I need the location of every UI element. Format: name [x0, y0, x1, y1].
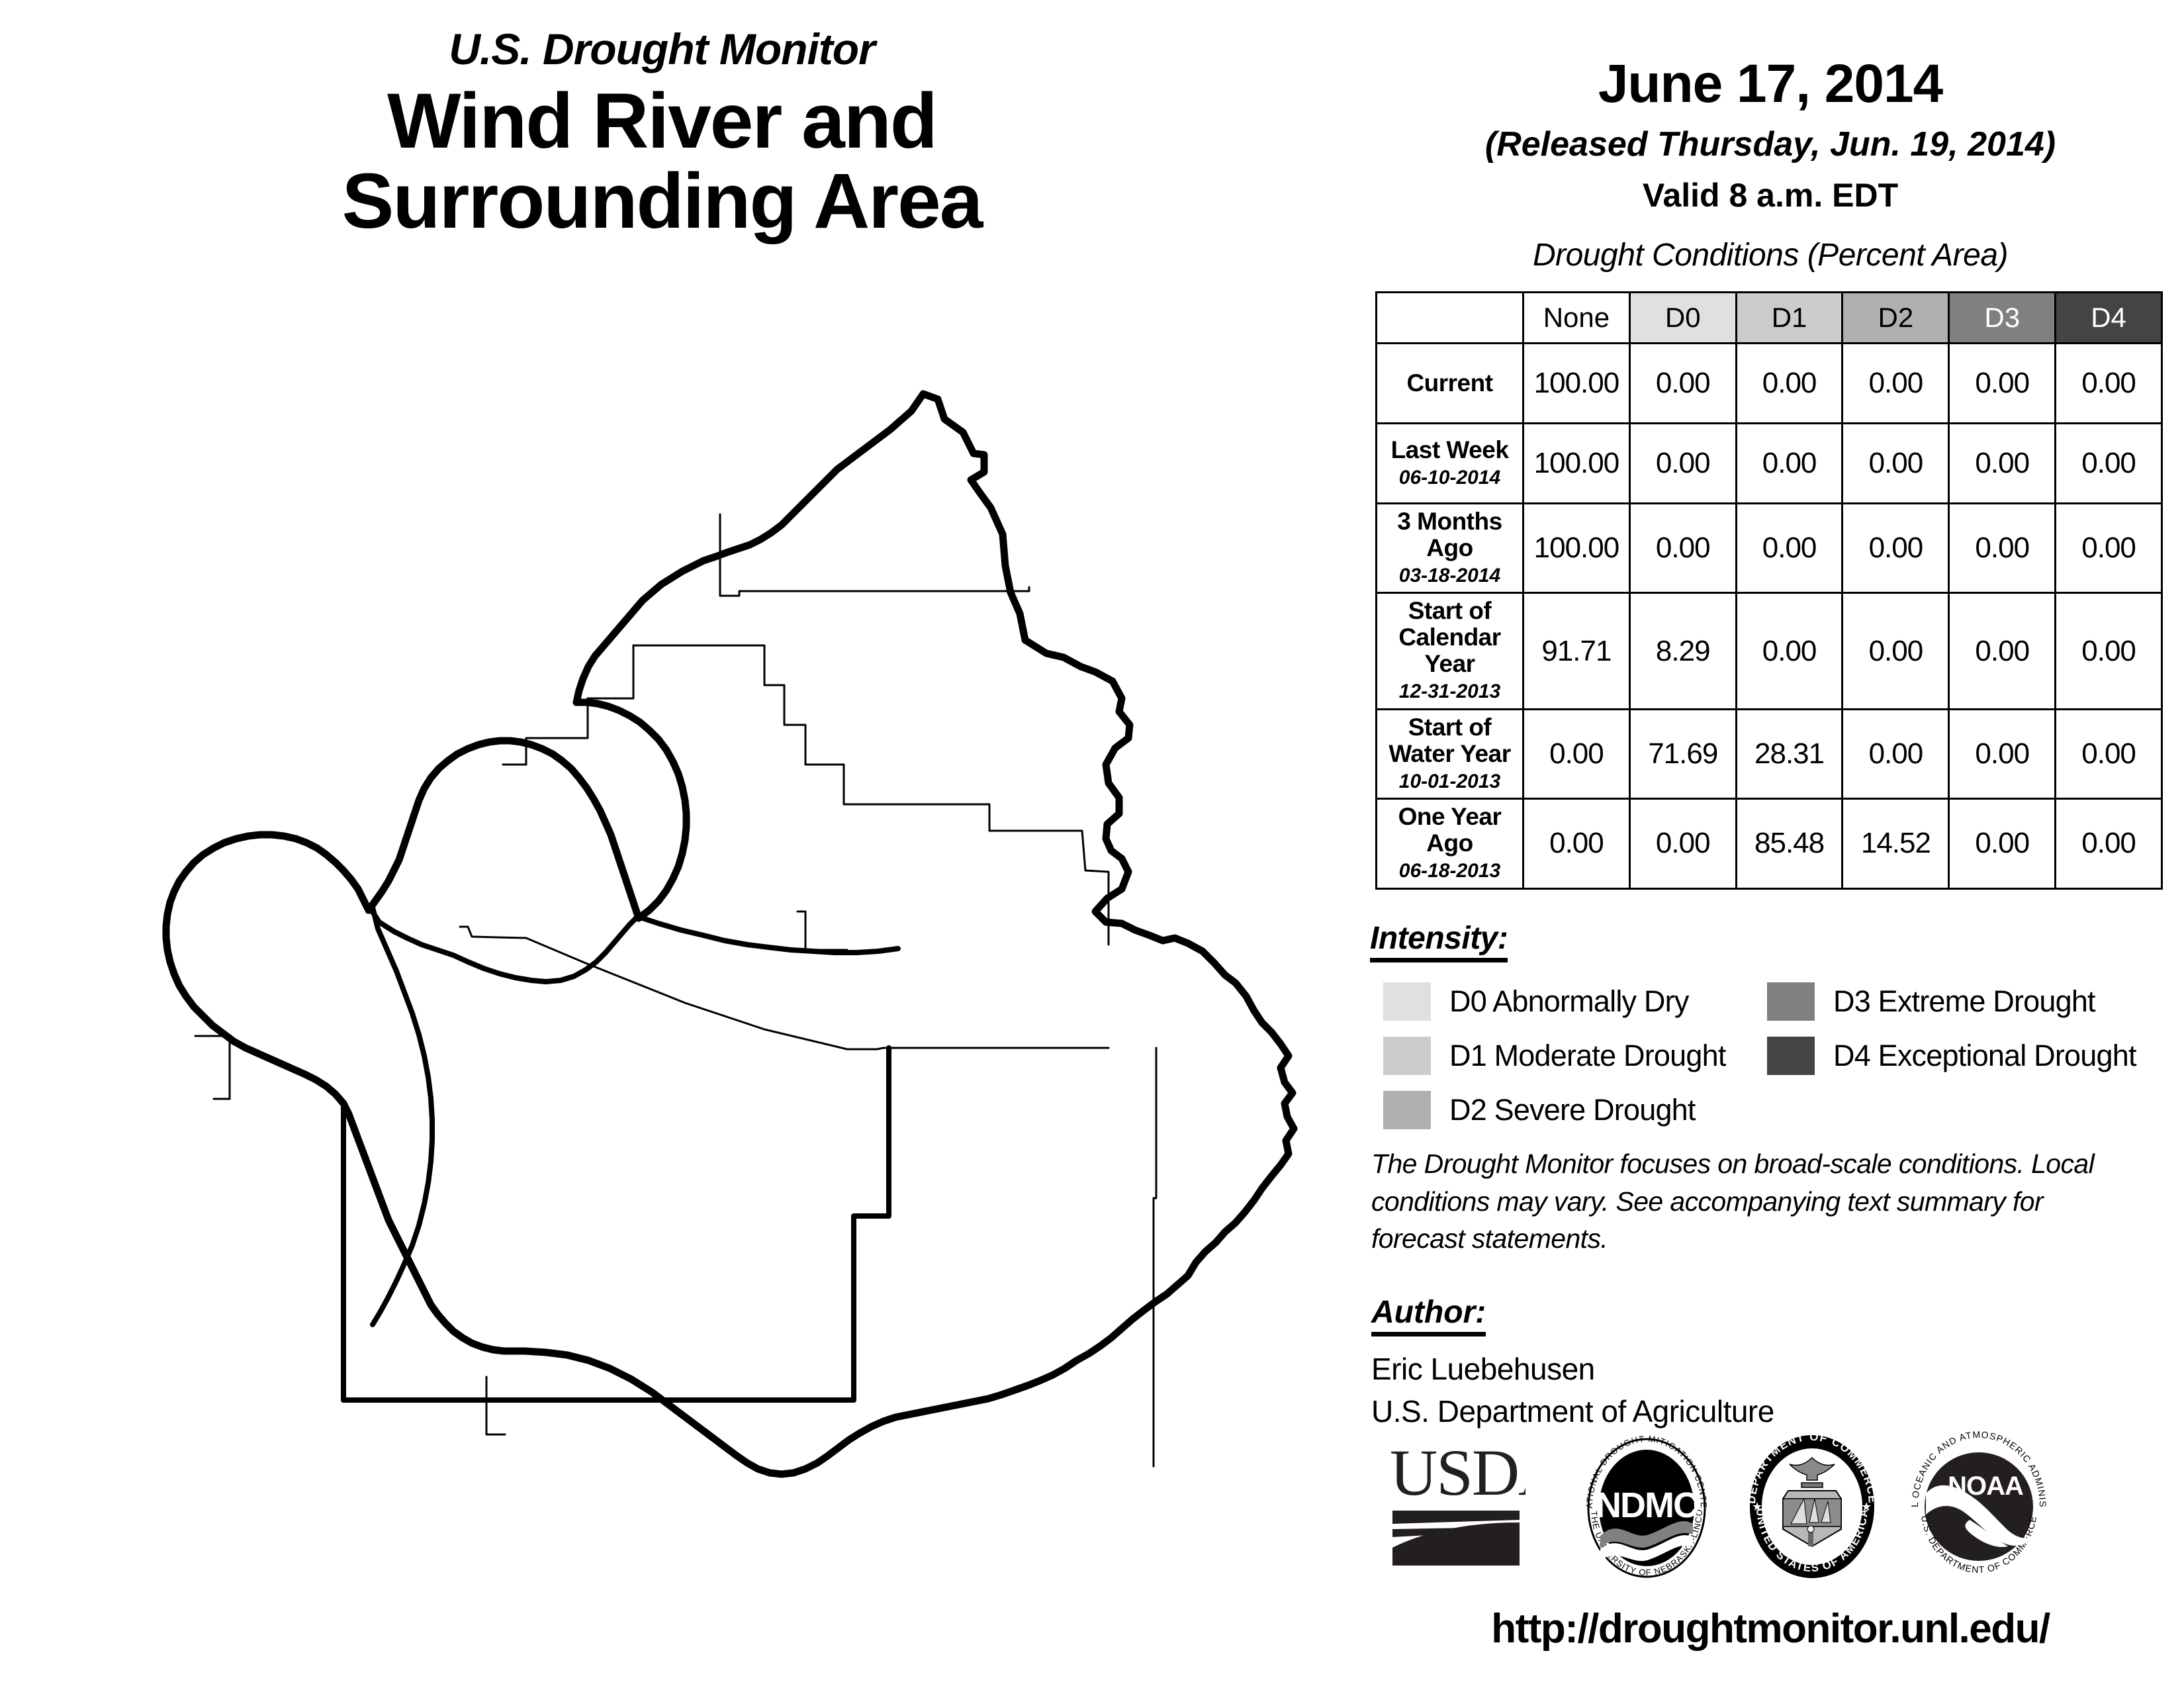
legend-swatch-d3 — [1767, 982, 1815, 1021]
legend-label-d1: D1 Moderate Drought — [1449, 1039, 1726, 1073]
author-organization: U.S. Department of Agriculture — [1371, 1393, 1774, 1429]
department-of-commerce-seal: DEPARTMENT OF COMMERCE UNITED STATES OF … — [1741, 1430, 1883, 1585]
cell-0-4: 0.00 — [1949, 344, 2056, 424]
cell-4-1: 71.69 — [1629, 709, 1736, 798]
row-label-name: One Year Ago — [1380, 804, 1520, 857]
cell-1-1: 0.00 — [1629, 424, 1736, 504]
column-header-d2: D2 — [1843, 293, 1949, 344]
row-label-name: Calendar Year — [1380, 624, 1520, 677]
cell-5-4: 0.00 — [1949, 799, 2056, 888]
row-label-date: 03-18-2014 — [1380, 563, 1520, 588]
cell-5-1: 0.00 — [1629, 799, 1736, 888]
cell-3-0: 91.71 — [1524, 593, 1630, 709]
cell-2-0: 100.00 — [1524, 504, 1630, 593]
cell-5-0: 0.00 — [1524, 799, 1630, 888]
table-row: Last Week06-10-2014100.000.000.000.000.0… — [1377, 424, 2162, 504]
legend-label-d3: D3 Extreme Drought — [1833, 984, 2095, 1019]
cell-2-4: 0.00 — [1949, 504, 2056, 593]
page-title-line-1: Wind River and — [0, 81, 1324, 161]
row-label-0: Current — [1377, 344, 1524, 424]
legend-item-d3: D3 Extreme Drought — [1767, 982, 2095, 1021]
cell-4-3: 0.00 — [1843, 709, 1949, 798]
column-header-d1: D1 — [1736, 293, 1843, 344]
column-header-d0: D0 — [1629, 293, 1736, 344]
row-label-5: One Year Ago06-18-2013 — [1377, 799, 1524, 888]
author-name: Eric Luebehusen — [1371, 1351, 1774, 1387]
table-row: Start ofCalendar Year12-31-201391.718.29… — [1377, 593, 2162, 709]
cell-1-3: 0.00 — [1843, 424, 1949, 504]
cell-3-1: 8.29 — [1629, 593, 1736, 709]
row-label-3: Start ofCalendar Year12-31-2013 — [1377, 593, 1524, 709]
page-title: Wind River and Surrounding Area — [0, 81, 1324, 241]
cell-0-2: 0.00 — [1736, 344, 1843, 424]
legend-item-d1: D1 Moderate Drought — [1383, 1037, 1726, 1075]
cell-2-5: 0.00 — [2056, 504, 2162, 593]
table-row: Start ofWater Year10-01-20130.0071.6928.… — [1377, 709, 2162, 798]
legend-swatch-d4 — [1767, 1037, 1815, 1075]
cell-2-1: 0.00 — [1629, 504, 1736, 593]
cell-2-2: 0.00 — [1736, 504, 1843, 593]
table-caption: Drought Conditions (Percent Area) — [1357, 237, 2184, 273]
usda-logo: USDA — [1390, 1430, 1525, 1575]
cell-1-2: 0.00 — [1736, 424, 1843, 504]
cell-1-0: 100.00 — [1524, 424, 1630, 504]
row-label-4: Start ofWater Year10-01-2013 — [1377, 709, 1524, 798]
svg-text:NOAA: NOAA — [1948, 1472, 2023, 1501]
product-name: U.S. Drought Monitor — [0, 26, 1324, 72]
title-block: U.S. Drought Monitor Wind River and Surr… — [0, 26, 1324, 241]
legend-item-d4: D4 Exceptional Drought — [1767, 1037, 2136, 1075]
row-label-1: Last Week06-10-2014 — [1377, 424, 1524, 504]
row-label-date: 06-10-2014 — [1380, 465, 1520, 491]
row-label-2: 3 Months Ago03-18-2014 — [1377, 504, 1524, 593]
legend-label-d4: D4 Exceptional Drought — [1833, 1039, 2136, 1073]
cell-5-5: 0.00 — [2056, 799, 2162, 888]
svg-text:★: ★ — [1861, 1500, 1872, 1513]
legend-item-d0: D0 Abnormally Dry — [1383, 982, 1689, 1021]
legend-grid: D0 Abnormally DryD1 Moderate DroughtD2 S… — [1370, 982, 2171, 1148]
table-row: 3 Months Ago03-18-2014100.000.000.000.00… — [1377, 504, 2162, 593]
svg-text:USDA: USDA — [1390, 1436, 1525, 1509]
legend-label-d2: D2 Severe Drought — [1449, 1093, 1696, 1127]
cell-1-4: 0.00 — [1949, 424, 2056, 504]
author-block: Author: Eric Luebehusen U.S. Department … — [1371, 1294, 1774, 1429]
row-label-date: 12-31-2013 — [1380, 679, 1520, 704]
table-header-row: None D0 D1 D2 D3 D4 — [1377, 293, 2162, 344]
legend-swatch-d2 — [1383, 1091, 1431, 1129]
cell-5-2: 85.48 — [1736, 799, 1843, 888]
row-label-name: 3 Months Ago — [1380, 508, 1520, 561]
cell-4-4: 0.00 — [1949, 709, 2056, 798]
cell-3-2: 0.00 — [1736, 593, 1843, 709]
cell-3-5: 0.00 — [2056, 593, 2162, 709]
row-label-name: Last Week — [1380, 437, 1520, 463]
column-header-d3: D3 — [1949, 293, 2056, 344]
row-label-date: 06-18-2013 — [1380, 859, 1520, 884]
cell-3-4: 0.00 — [1949, 593, 2056, 709]
drought-conditions-table: None D0 D1 D2 D3 D4 Current100.000.000.0… — [1375, 291, 2163, 890]
cell-5-3: 14.52 — [1843, 799, 1949, 888]
legend-label-d0: D0 Abnormally Dry — [1449, 984, 1689, 1019]
page-title-line-2: Surrounding Area — [0, 162, 1324, 241]
cell-4-2: 28.31 — [1736, 709, 1843, 798]
cell-0-0: 100.00 — [1524, 344, 1630, 424]
cell-0-5: 0.00 — [2056, 344, 2162, 424]
cell-0-1: 0.00 — [1629, 344, 1736, 424]
ndmc-logo: NATIONAL DROUGHT MITIGATION CENTER AT TH… — [1575, 1430, 1717, 1585]
author-title: Author: — [1371, 1294, 1486, 1336]
cell-4-0: 0.00 — [1524, 709, 1630, 798]
legend-swatch-d0 — [1383, 982, 1431, 1021]
disclaimer-text: The Drought Monitor focuses on broad-sca… — [1371, 1145, 2139, 1258]
drought-map[interactable] — [63, 367, 1347, 1486]
row-label-name: Start of — [1380, 714, 1520, 741]
legend-swatch-d1 — [1383, 1037, 1431, 1075]
table-row: Current100.000.000.000.000.000.00 — [1377, 344, 2162, 424]
table-row: One Year Ago06-18-20130.000.0085.4814.52… — [1377, 799, 2162, 888]
cell-1-5: 0.00 — [2056, 424, 2162, 504]
logo-row: USDA NATIONAL DROUGHT MITIGATION CENTER … — [1383, 1430, 2164, 1595]
table-corner-cell — [1377, 293, 1524, 344]
valid-date: June 17, 2014 — [1357, 53, 2184, 115]
svg-text:NDMC: NDMC — [1596, 1485, 1698, 1525]
date-block: June 17, 2014 (Released Thursday, Jun. 1… — [1357, 0, 2184, 214]
row-label-name: Water Year — [1380, 741, 1520, 767]
row-label-name: Current — [1380, 370, 1520, 397]
legend-item-d2: D2 Severe Drought — [1383, 1091, 1696, 1129]
release-date: (Released Thursday, Jun. 19, 2014) — [1357, 124, 2184, 164]
cell-4-5: 0.00 — [2056, 709, 2162, 798]
row-label-name: Start of — [1380, 598, 1520, 624]
intensity-legend: Intensity: D0 Abnormally DryD1 Moderate … — [1370, 920, 2171, 1148]
cell-0-3: 0.00 — [1843, 344, 1949, 424]
cell-2-3: 0.00 — [1843, 504, 1949, 593]
cell-3-3: 0.00 — [1843, 593, 1949, 709]
noaa-logo: NATIONAL OCEANIC AND ATMOSPHERIC ADMINIS… — [1906, 1430, 2052, 1585]
column-header-d4: D4 — [2056, 293, 2162, 344]
intensity-title: Intensity: — [1370, 920, 1508, 962]
valid-time: Valid 8 a.m. EDT — [1357, 176, 2184, 214]
svg-text:★: ★ — [1752, 1500, 1762, 1513]
website-url[interactable]: http://droughtmonitor.unl.edu/ — [1357, 1605, 2184, 1652]
column-header-none: None — [1524, 293, 1630, 344]
row-label-date: 10-01-2013 — [1380, 769, 1520, 794]
